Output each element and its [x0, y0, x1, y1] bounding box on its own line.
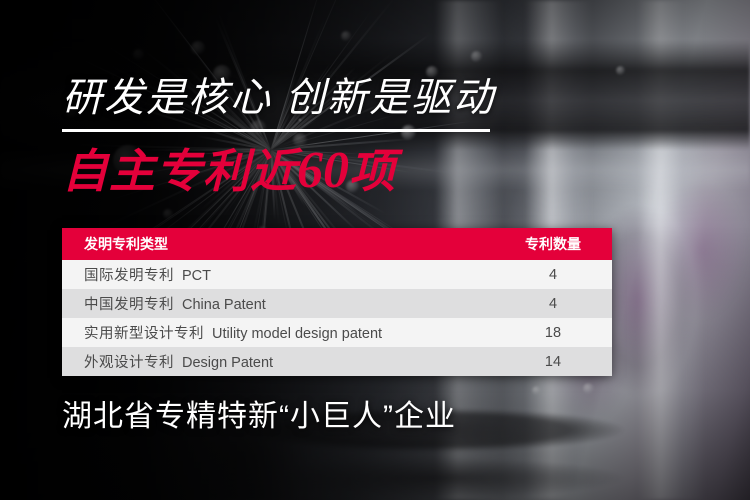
patent-type-en: China Patent — [182, 297, 266, 313]
patent-type-cn: 国际发明专利 — [84, 268, 174, 284]
headline-secondary-prefix: 自主专利近 — [62, 145, 297, 197]
footer-tagline: 湖北省专精特新“小巨人”企业 — [62, 402, 456, 432]
headline-secondary-number: 60 — [297, 142, 349, 199]
table-header-count: 专利数量 — [494, 234, 612, 254]
patent-table: 发明专利类型 专利数量 国际发明专利PCT 4 中国发明专利China Pate… — [62, 228, 612, 376]
patent-type-cn: 外观设计专利 — [84, 355, 174, 371]
table-cell-type: 中国发明专利China Patent — [62, 293, 494, 314]
table-cell-count: 14 — [494, 354, 612, 370]
promo-poster: 研发是核心 创新是驱动 自主专利近60项 发明专利类型 专利数量 国际发明专利P… — [0, 0, 750, 500]
poster-content: 研发是核心 创新是驱动 自主专利近60项 发明专利类型 专利数量 国际发明专利P… — [0, 0, 750, 500]
headline-secondary: 自主专利近60项 — [62, 145, 396, 197]
table-cell-count: 18 — [494, 325, 612, 341]
table-cell-type: 外观设计专利Design Patent — [62, 351, 494, 372]
table-header-type: 发明专利类型 — [62, 234, 494, 254]
table-row: 外观设计专利Design Patent 14 — [62, 347, 612, 376]
table-cell-count: 4 — [494, 296, 612, 312]
table-row: 中国发明专利China Patent 4 — [62, 289, 612, 318]
headline-divider — [62, 129, 490, 132]
patent-type-cn: 中国发明专利 — [84, 297, 174, 313]
headline-primary: 研发是核心 创新是驱动 — [62, 78, 495, 118]
table-cell-count: 4 — [494, 267, 612, 283]
headline-secondary-suffix: 项 — [349, 145, 396, 197]
patent-type-en: Design Patent — [182, 355, 273, 371]
table-row: 国际发明专利PCT 4 — [62, 260, 612, 289]
table-row: 实用新型设计专利Utility model design patent 18 — [62, 318, 612, 347]
table-cell-type: 国际发明专利PCT — [62, 264, 494, 285]
patent-type-cn: 实用新型设计专利 — [84, 326, 204, 342]
patent-type-en: PCT — [182, 268, 211, 284]
table-header-row: 发明专利类型 专利数量 — [62, 228, 612, 260]
patent-type-en: Utility model design patent — [212, 326, 382, 342]
table-cell-type: 实用新型设计专利Utility model design patent — [62, 322, 494, 343]
